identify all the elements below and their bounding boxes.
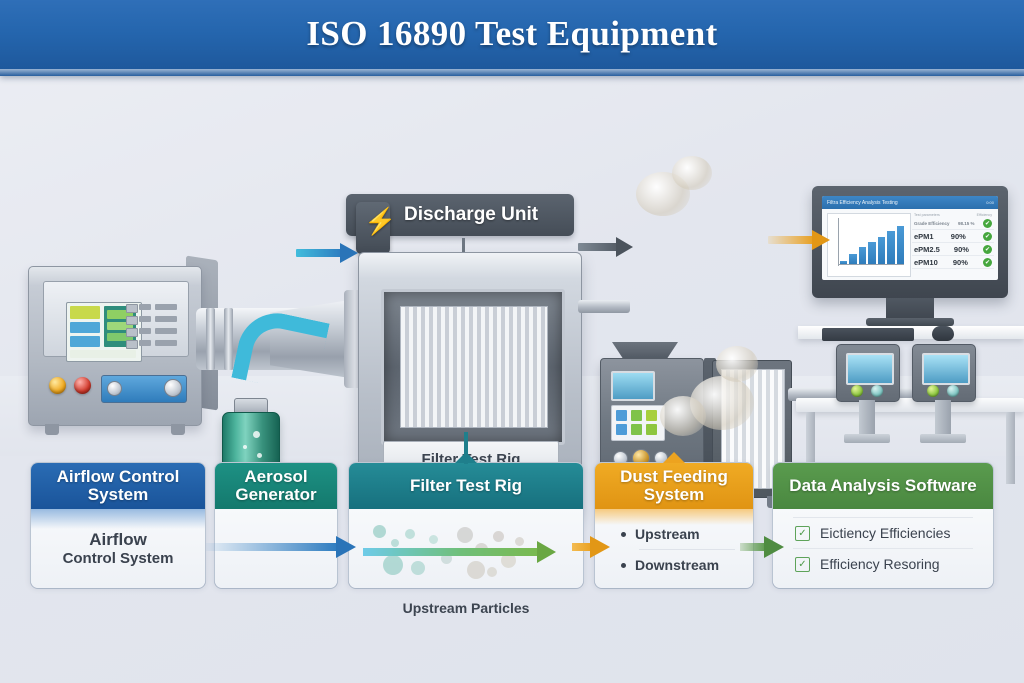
card-filter-test-rig[interactable]: Filter Test Rig bbox=[348, 462, 584, 587]
chart-x-axis bbox=[838, 264, 904, 265]
software-window-status: 0:00 bbox=[986, 200, 994, 205]
airflow-control-cabinet bbox=[28, 266, 202, 426]
card-body-filter-test-rig bbox=[349, 509, 583, 588]
result-row: ePM2.590%✔ bbox=[912, 243, 994, 256]
card-arrow-aerosol-to-rig bbox=[206, 540, 356, 554]
chart-bar bbox=[878, 237, 885, 264]
feeder-indicator-panel bbox=[611, 405, 665, 441]
cabinet-lamp-amber[interactable] bbox=[49, 377, 66, 394]
counter-stand bbox=[935, 400, 951, 434]
counter-display bbox=[846, 353, 894, 385]
particle-counter-upstream bbox=[836, 344, 900, 402]
page-title: ISO 16890 Test Equipment bbox=[0, 14, 1024, 54]
result-row: ePM190%✔ bbox=[912, 230, 994, 243]
card-header-data-analysis-software: Data Analysis Software bbox=[773, 463, 993, 509]
counter-button-green[interactable] bbox=[851, 385, 863, 397]
lightning-bolt-icon: ⚡ bbox=[364, 208, 396, 234]
card-header-airflow-control-system: Airflow Control System bbox=[31, 463, 205, 509]
check-badge-icon: ✔ bbox=[983, 258, 992, 267]
result-row: ePM1090%✔ bbox=[912, 256, 994, 269]
chart-bar bbox=[887, 231, 894, 264]
chart-bar bbox=[849, 254, 856, 264]
rig-chamber-door bbox=[381, 289, 565, 445]
chart-bar bbox=[868, 242, 875, 264]
process-flow-cards: Airflow Control System Airflow Control S… bbox=[0, 456, 1024, 606]
results-subrow-value: 98.15 % bbox=[958, 221, 975, 226]
outlet-pipe bbox=[578, 300, 630, 313]
card-arrow-rig-to-dust bbox=[572, 540, 610, 554]
card-body-dust-feeding-system: UpstreamDownstream bbox=[595, 509, 753, 588]
check-label: Eictiency Efficiencies bbox=[820, 525, 950, 541]
cabinet-knob-left[interactable] bbox=[107, 381, 122, 396]
card-arrow-dust-to-analysis bbox=[740, 540, 786, 554]
counter-button-teal[interactable] bbox=[947, 385, 959, 397]
card-body-line2: Control System bbox=[63, 550, 174, 567]
card-notch-dust-feeding-system bbox=[663, 452, 685, 463]
results-col1: Test parameters bbox=[914, 213, 940, 217]
cabinet-front-panel bbox=[43, 281, 189, 357]
result-row-label: ePM10 bbox=[914, 258, 938, 267]
flow-arrow-inside-rig-card bbox=[363, 545, 559, 559]
monitor-screen[interactable]: Filtra Efficiency Analysis Testing 0:00 … bbox=[822, 196, 998, 280]
card-header-dust-feeding-system: Dust Feeding System bbox=[595, 463, 753, 509]
chart-bars bbox=[840, 224, 904, 264]
dust-arrow-to-feeder bbox=[578, 241, 634, 253]
results-arrow-to-monitor bbox=[768, 234, 830, 246]
cabinet-lamp-red[interactable] bbox=[74, 377, 91, 394]
results-subrow-label: Grade Efficiency bbox=[914, 221, 950, 226]
bullet-dot-icon bbox=[621, 532, 626, 537]
airflow-arrow-to-rig bbox=[296, 247, 358, 259]
card-header-aerosol-generator: Aerosol Generator bbox=[215, 463, 337, 509]
test-filter-media bbox=[400, 306, 548, 428]
results-table: Test parameters Efficiency Grade Efficie… bbox=[912, 213, 994, 269]
diagram-canvas: ISO 16890 Test Equipment bbox=[0, 0, 1024, 683]
card-airflow-control-system[interactable]: Airflow Control System Airflow Control S… bbox=[30, 462, 206, 587]
bullet-dot-icon bbox=[621, 563, 626, 568]
results-subrow: Grade Efficiency 98.15 % ✔ bbox=[912, 217, 994, 230]
counter-button-teal[interactable] bbox=[871, 385, 883, 397]
card-body-line1: Airflow bbox=[89, 530, 147, 550]
chart-y-axis bbox=[838, 218, 839, 266]
chart-bar bbox=[840, 261, 847, 264]
result-row-label: ePM2.5 bbox=[914, 245, 940, 254]
cabinet-foot bbox=[45, 424, 59, 435]
cabinet-keypad[interactable] bbox=[126, 302, 180, 360]
instrument-bench bbox=[796, 398, 1024, 412]
card-aerosol-generator[interactable]: Aerosol Generator bbox=[214, 462, 338, 587]
results-col2: Efficiency bbox=[977, 213, 992, 217]
check-badge-icon: ✔ bbox=[983, 232, 992, 241]
result-row-value: 90% bbox=[951, 232, 966, 241]
card-caption-upstream-particles: Upstream Particles bbox=[348, 600, 584, 616]
counter-display bbox=[922, 353, 970, 385]
software-title-bar: Filtra Efficiency Analysis Testing 0:00 bbox=[822, 196, 998, 209]
keyboard[interactable] bbox=[822, 328, 914, 341]
analysis-check-list: ✓Eictiency Efficiencies✓Efficiency Resor… bbox=[773, 509, 993, 579]
counter-button-green[interactable] bbox=[927, 385, 939, 397]
discharge-unit-label: Discharge Unit bbox=[404, 204, 538, 226]
card-data-analysis-software[interactable]: Data Analysis Software ✓Eictiency Effici… bbox=[772, 462, 994, 587]
card-dust-feeding-system[interactable]: Dust Feeding System UpstreamDownstream bbox=[594, 462, 754, 587]
cabinet-foot bbox=[171, 424, 185, 435]
feeder-display bbox=[611, 371, 655, 401]
check-item[interactable]: ✓Eictiency Efficiencies bbox=[773, 518, 993, 548]
result-row-value: 90% bbox=[953, 258, 968, 267]
card-notch-filter-test-rig bbox=[455, 452, 477, 463]
mouse[interactable] bbox=[932, 326, 954, 341]
check-label: Efficiency Resoring bbox=[820, 556, 940, 572]
checkbox-icon[interactable]: ✓ bbox=[795, 557, 810, 572]
dust-cloud bbox=[660, 396, 706, 436]
cabinet-knob-right[interactable] bbox=[164, 379, 182, 397]
results-rows: ePM190%✔ePM2.590%✔ePM1090%✔ bbox=[912, 230, 994, 269]
counter-base bbox=[844, 434, 890, 443]
dust-cloud bbox=[672, 156, 712, 190]
bullet-item: Downstream bbox=[621, 550, 753, 580]
title-bar: ISO 16890 Test Equipment bbox=[0, 0, 1024, 76]
efficiency-bar-chart bbox=[827, 213, 911, 277]
check-item[interactable]: ✓Efficiency Resoring bbox=[773, 549, 993, 579]
result-row-label: ePM1 bbox=[914, 232, 934, 241]
card-body-airflow-control-system: Airflow Control System bbox=[31, 509, 205, 588]
card-body-data-analysis-software: ✓Eictiency Efficiencies✓Efficiency Resor… bbox=[773, 509, 993, 588]
monitor-base bbox=[866, 318, 954, 326]
equipment-illustration: Discharge Unit ⚡ Filter Test Rig bbox=[0, 76, 1024, 456]
checkbox-icon[interactable]: ✓ bbox=[795, 526, 810, 541]
analysis-monitor: Filtra Efficiency Analysis Testing 0:00 … bbox=[812, 186, 1008, 298]
dust-cloud bbox=[716, 346, 758, 382]
particle-counter-downstream bbox=[912, 344, 976, 402]
result-row-value: 90% bbox=[954, 245, 969, 254]
bullet-label: Upstream bbox=[635, 526, 700, 542]
chart-bar bbox=[859, 247, 866, 264]
card-header-filter-test-rig: Filter Test Rig bbox=[349, 463, 583, 509]
software-window-title: Filtra Efficiency Analysis Testing bbox=[827, 200, 898, 206]
counter-stand bbox=[859, 400, 875, 434]
check-badge-icon: ✔ bbox=[983, 219, 992, 228]
bullet-label: Downstream bbox=[635, 557, 719, 573]
monitor-stand bbox=[886, 298, 934, 320]
chart-bar bbox=[897, 226, 904, 264]
check-badge-icon: ✔ bbox=[983, 245, 992, 254]
counter-base bbox=[920, 434, 966, 443]
